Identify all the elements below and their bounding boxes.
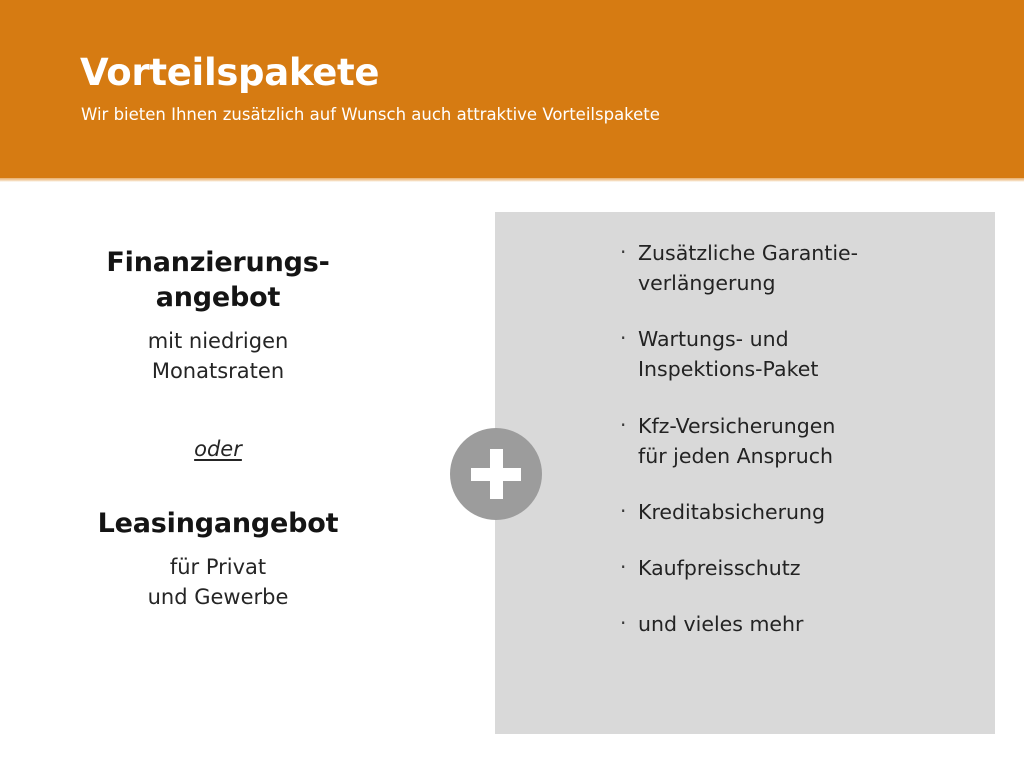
financing-offer-subtitle: mit niedrigen Monatsraten <box>60 327 376 387</box>
list-item-label: Kfz-Versicherungen für jeden Anspruch <box>638 411 960 471</box>
list-item: ·und vieles mehr <box>620 609 960 639</box>
list-item-label: und vieles mehr <box>638 609 960 639</box>
page-subtitle: Wir bieten Ihnen zusätzlich auf Wunsch a… <box>81 105 660 125</box>
list-item: ·Kaufpreisschutz <box>620 553 960 583</box>
offer-separator-label: oder <box>194 437 242 461</box>
offer-separator: oder <box>60 437 376 461</box>
list-item-label: Kreditabsicherung <box>638 497 960 527</box>
list-item: ·Kreditabsicherung <box>620 497 960 527</box>
list-item: ·Zusätzliche Garantie- verlängerung <box>620 238 960 298</box>
financing-offer-block: Finanzierungs- angebot mit niedrigen Mon… <box>60 246 376 387</box>
leasing-offer-title: Leasingangebot <box>60 507 376 542</box>
benefits-list: ·Zusätzliche Garantie- verlängerung·Wart… <box>620 238 960 639</box>
slide-canvas: Vorteilspakete Wir bieten Ihnen zusätzli… <box>0 0 1024 768</box>
bullet-icon: · <box>620 497 638 526</box>
list-item-label: Kaufpreisschutz <box>638 553 960 583</box>
leasing-offer-subtitle: für Privat und Gewerbe <box>60 553 376 613</box>
plus-icon <box>450 428 542 520</box>
page-title: Vorteilspakete <box>80 54 379 93</box>
list-item-label: Zusätzliche Garantie- verlängerung <box>638 238 960 298</box>
plus-icon-vertical-bar <box>490 449 503 499</box>
bullet-icon: · <box>620 609 638 638</box>
financing-offer-title: Finanzierungs- angebot <box>60 246 376 315</box>
offers-column: Finanzierungs- angebot mit niedrigen Mon… <box>60 246 376 613</box>
bullet-icon: · <box>620 553 638 582</box>
bullet-icon: · <box>620 238 638 267</box>
list-item: ·Kfz-Versicherungen für jeden Anspruch <box>620 411 960 471</box>
header-divider <box>0 178 1024 182</box>
leasing-offer-block: Leasingangebot für Privat und Gewerbe <box>60 507 376 613</box>
bullet-icon: · <box>620 324 638 353</box>
bullet-icon: · <box>620 411 638 440</box>
list-item-label: Wartungs- und Inspektions-Paket <box>638 324 960 384</box>
header-banner: Vorteilspakete Wir bieten Ihnen zusätzli… <box>0 0 1024 178</box>
list-item: ·Wartungs- und Inspektions-Paket <box>620 324 960 384</box>
